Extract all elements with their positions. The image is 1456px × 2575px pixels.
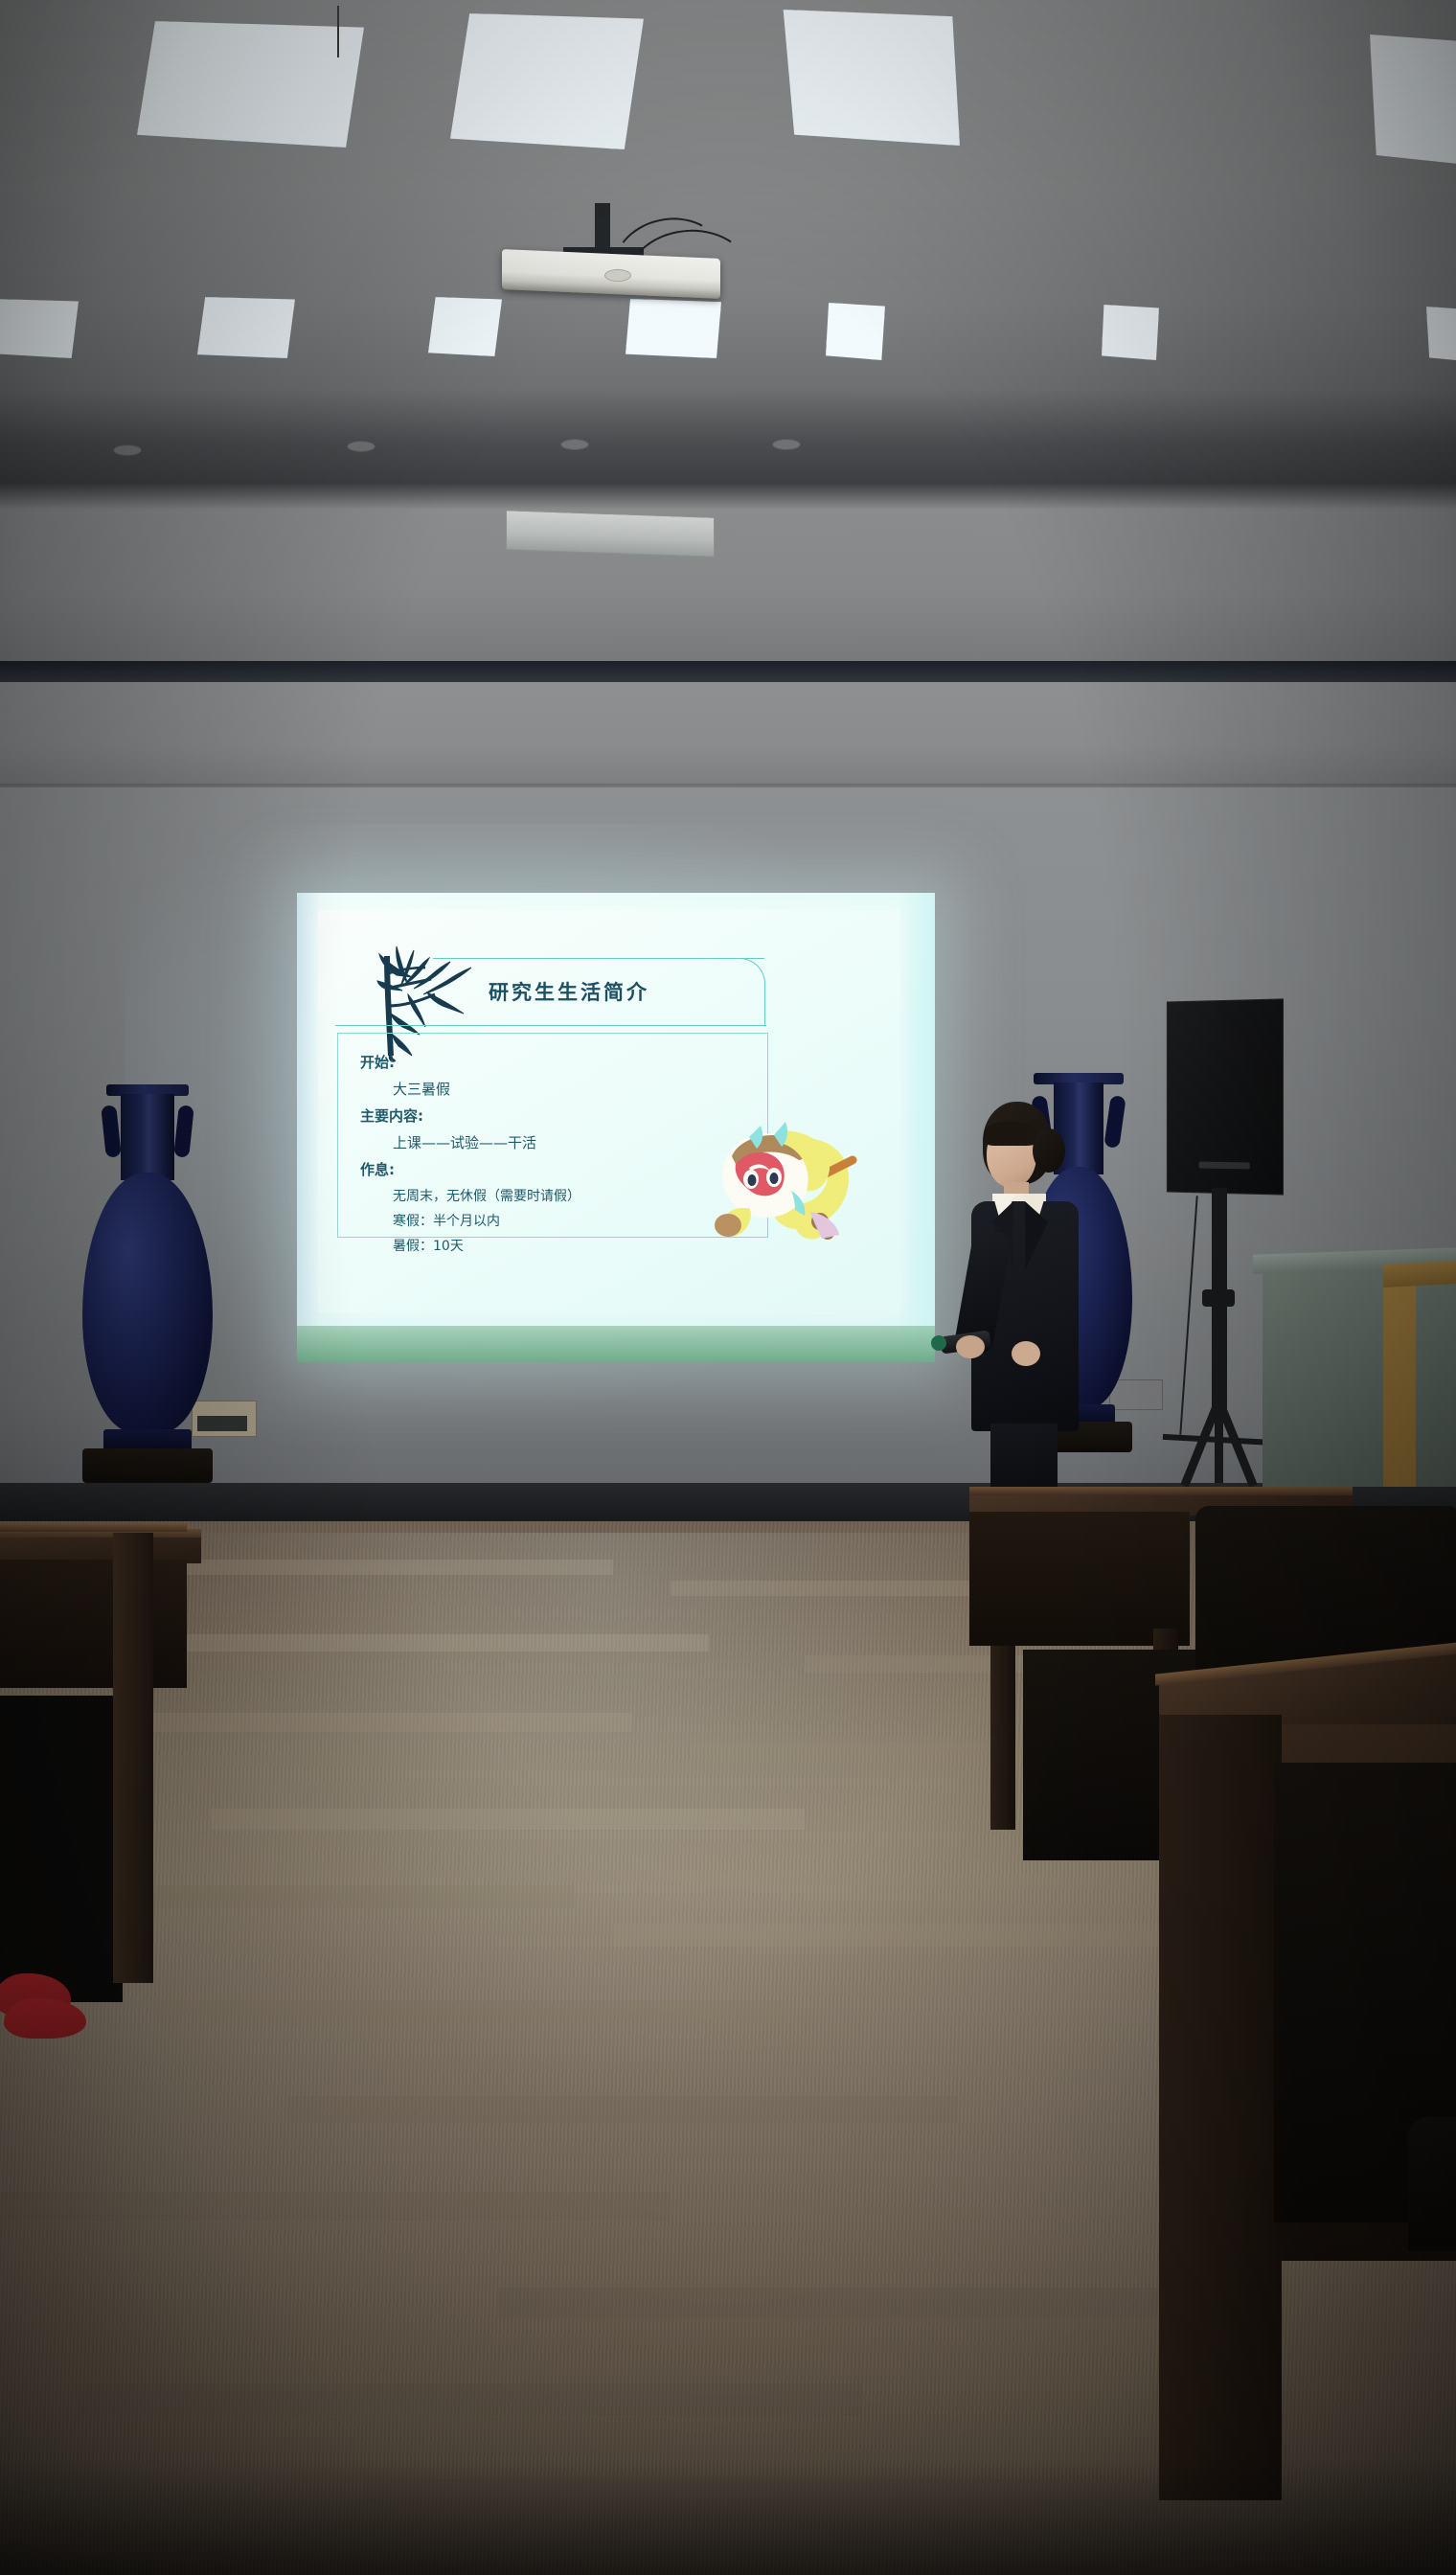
conference-desk <box>0 1523 187 1542</box>
ceiling-hanging-wire <box>337 6 339 57</box>
smoke-detector-icon <box>113 444 142 456</box>
ceiling-light-panel <box>137 21 364 148</box>
vase-neck <box>121 1094 174 1180</box>
floor-plank <box>211 1809 805 1830</box>
screen-right-edge <box>897 893 935 1362</box>
slide-rule-top <box>433 958 764 959</box>
screen-bottom-band <box>297 1326 935 1362</box>
slide: 研究生生活简介 开始: 大三暑假 主要内容: 上课——试验——干活 作息: 无周… <box>318 910 900 1312</box>
smoke-detector-icon <box>347 441 375 452</box>
projection-screen: 研究生生活简介 开始: 大三暑假 主要内容: 上课——试验——干活 作息: 无周… <box>297 893 935 1362</box>
ceiling-light-panel <box>197 297 295 358</box>
vase-body <box>82 1173 213 1433</box>
floor-plank <box>153 2000 785 2025</box>
presenter-hair-bun <box>1033 1128 1065 1173</box>
slide-line: 主要内容: <box>360 1105 423 1126</box>
desk-leg <box>990 1646 1015 1830</box>
blue-porcelain-vase-left <box>75 1084 220 1515</box>
ceiling-dark-band <box>0 661 1456 682</box>
slide-line: 大三暑假 <box>360 1079 450 1099</box>
vase-handle <box>1103 1095 1126 1149</box>
desk-apron <box>0 1560 187 1688</box>
desk-apron <box>969 1512 1190 1646</box>
lecture-hall-photo: 研究生生活简介 开始: 大三暑假 主要内容: 上课——试验——干活 作息: 无周… <box>0 0 1456 2575</box>
floor-plank <box>613 1924 1188 1947</box>
speaker-brand-badge <box>1199 1162 1250 1170</box>
slide-line: 上课——试验——干活 <box>360 1132 536 1152</box>
side-cabinet-wood-trim <box>1383 1261 1456 1287</box>
desk-side-panel <box>113 1533 153 1983</box>
smoke-detector-icon <box>772 439 801 450</box>
side-cabinet <box>1263 1265 1456 1487</box>
slide-line: 无周末，无休假（需要时请假） <box>360 1186 580 1205</box>
pa-speaker <box>1167 998 1284 1195</box>
slide-rule-corner <box>739 958 765 1026</box>
vase-foot <box>103 1429 192 1450</box>
projection-screen-housing <box>506 510 715 558</box>
ceiling-light-panel <box>1370 34 1456 166</box>
floor-plank <box>0 2192 671 2221</box>
seated-person-legs <box>0 1696 123 2002</box>
desk-edge <box>0 1523 187 1532</box>
speaker-stand-clamp <box>1202 1289 1235 1307</box>
ceiling-light-panel <box>428 297 502 356</box>
slide-title: 研究生生活简介 <box>489 977 649 1006</box>
presenter-hand <box>1012 1341 1040 1366</box>
smoke-detector-icon <box>560 439 589 450</box>
floor-plank <box>287 2096 958 2123</box>
foreground-desk-side <box>1159 1715 1282 2500</box>
ceiling-light-panel <box>776 10 960 146</box>
slide-rule-under-title <box>335 1025 766 1026</box>
floor-plank <box>77 2383 862 2416</box>
ceiling-soffit <box>0 682 1456 787</box>
slide-line: 开始: <box>360 1052 395 1072</box>
presenter-fringe <box>984 1121 1037 1146</box>
floor-plank <box>498 2288 1226 2318</box>
chair <box>1408 2117 1456 2251</box>
monkey-king-cartoon-icon <box>707 1116 860 1245</box>
presenter-hand <box>956 1335 985 1358</box>
side-cabinet-wood-post <box>1383 1266 1416 1487</box>
vase-stand <box>82 1448 213 1483</box>
ceiling-light-panel <box>0 299 79 358</box>
ceiling-light-panel <box>1426 307 1456 362</box>
slide-line: 暑假：10天 <box>360 1236 464 1255</box>
screen-left-edge <box>297 893 320 1362</box>
ceiling-light-panel <box>450 13 644 149</box>
ceiling-light-panel <box>1102 305 1159 360</box>
microphone-indicator-icon <box>931 1335 946 1351</box>
slide-line: 作息: <box>360 1159 395 1179</box>
foreground-shadow <box>0 2460 1456 2575</box>
vase-handle <box>101 1105 122 1157</box>
floor-plank <box>172 1634 709 1652</box>
ceiling-light-panel <box>826 303 885 360</box>
vase-handle <box>173 1105 194 1157</box>
slide-line: 寒假：半个月以内 <box>360 1211 500 1230</box>
desk-edge <box>969 1487 1353 1495</box>
presenter <box>958 1102 1102 1504</box>
